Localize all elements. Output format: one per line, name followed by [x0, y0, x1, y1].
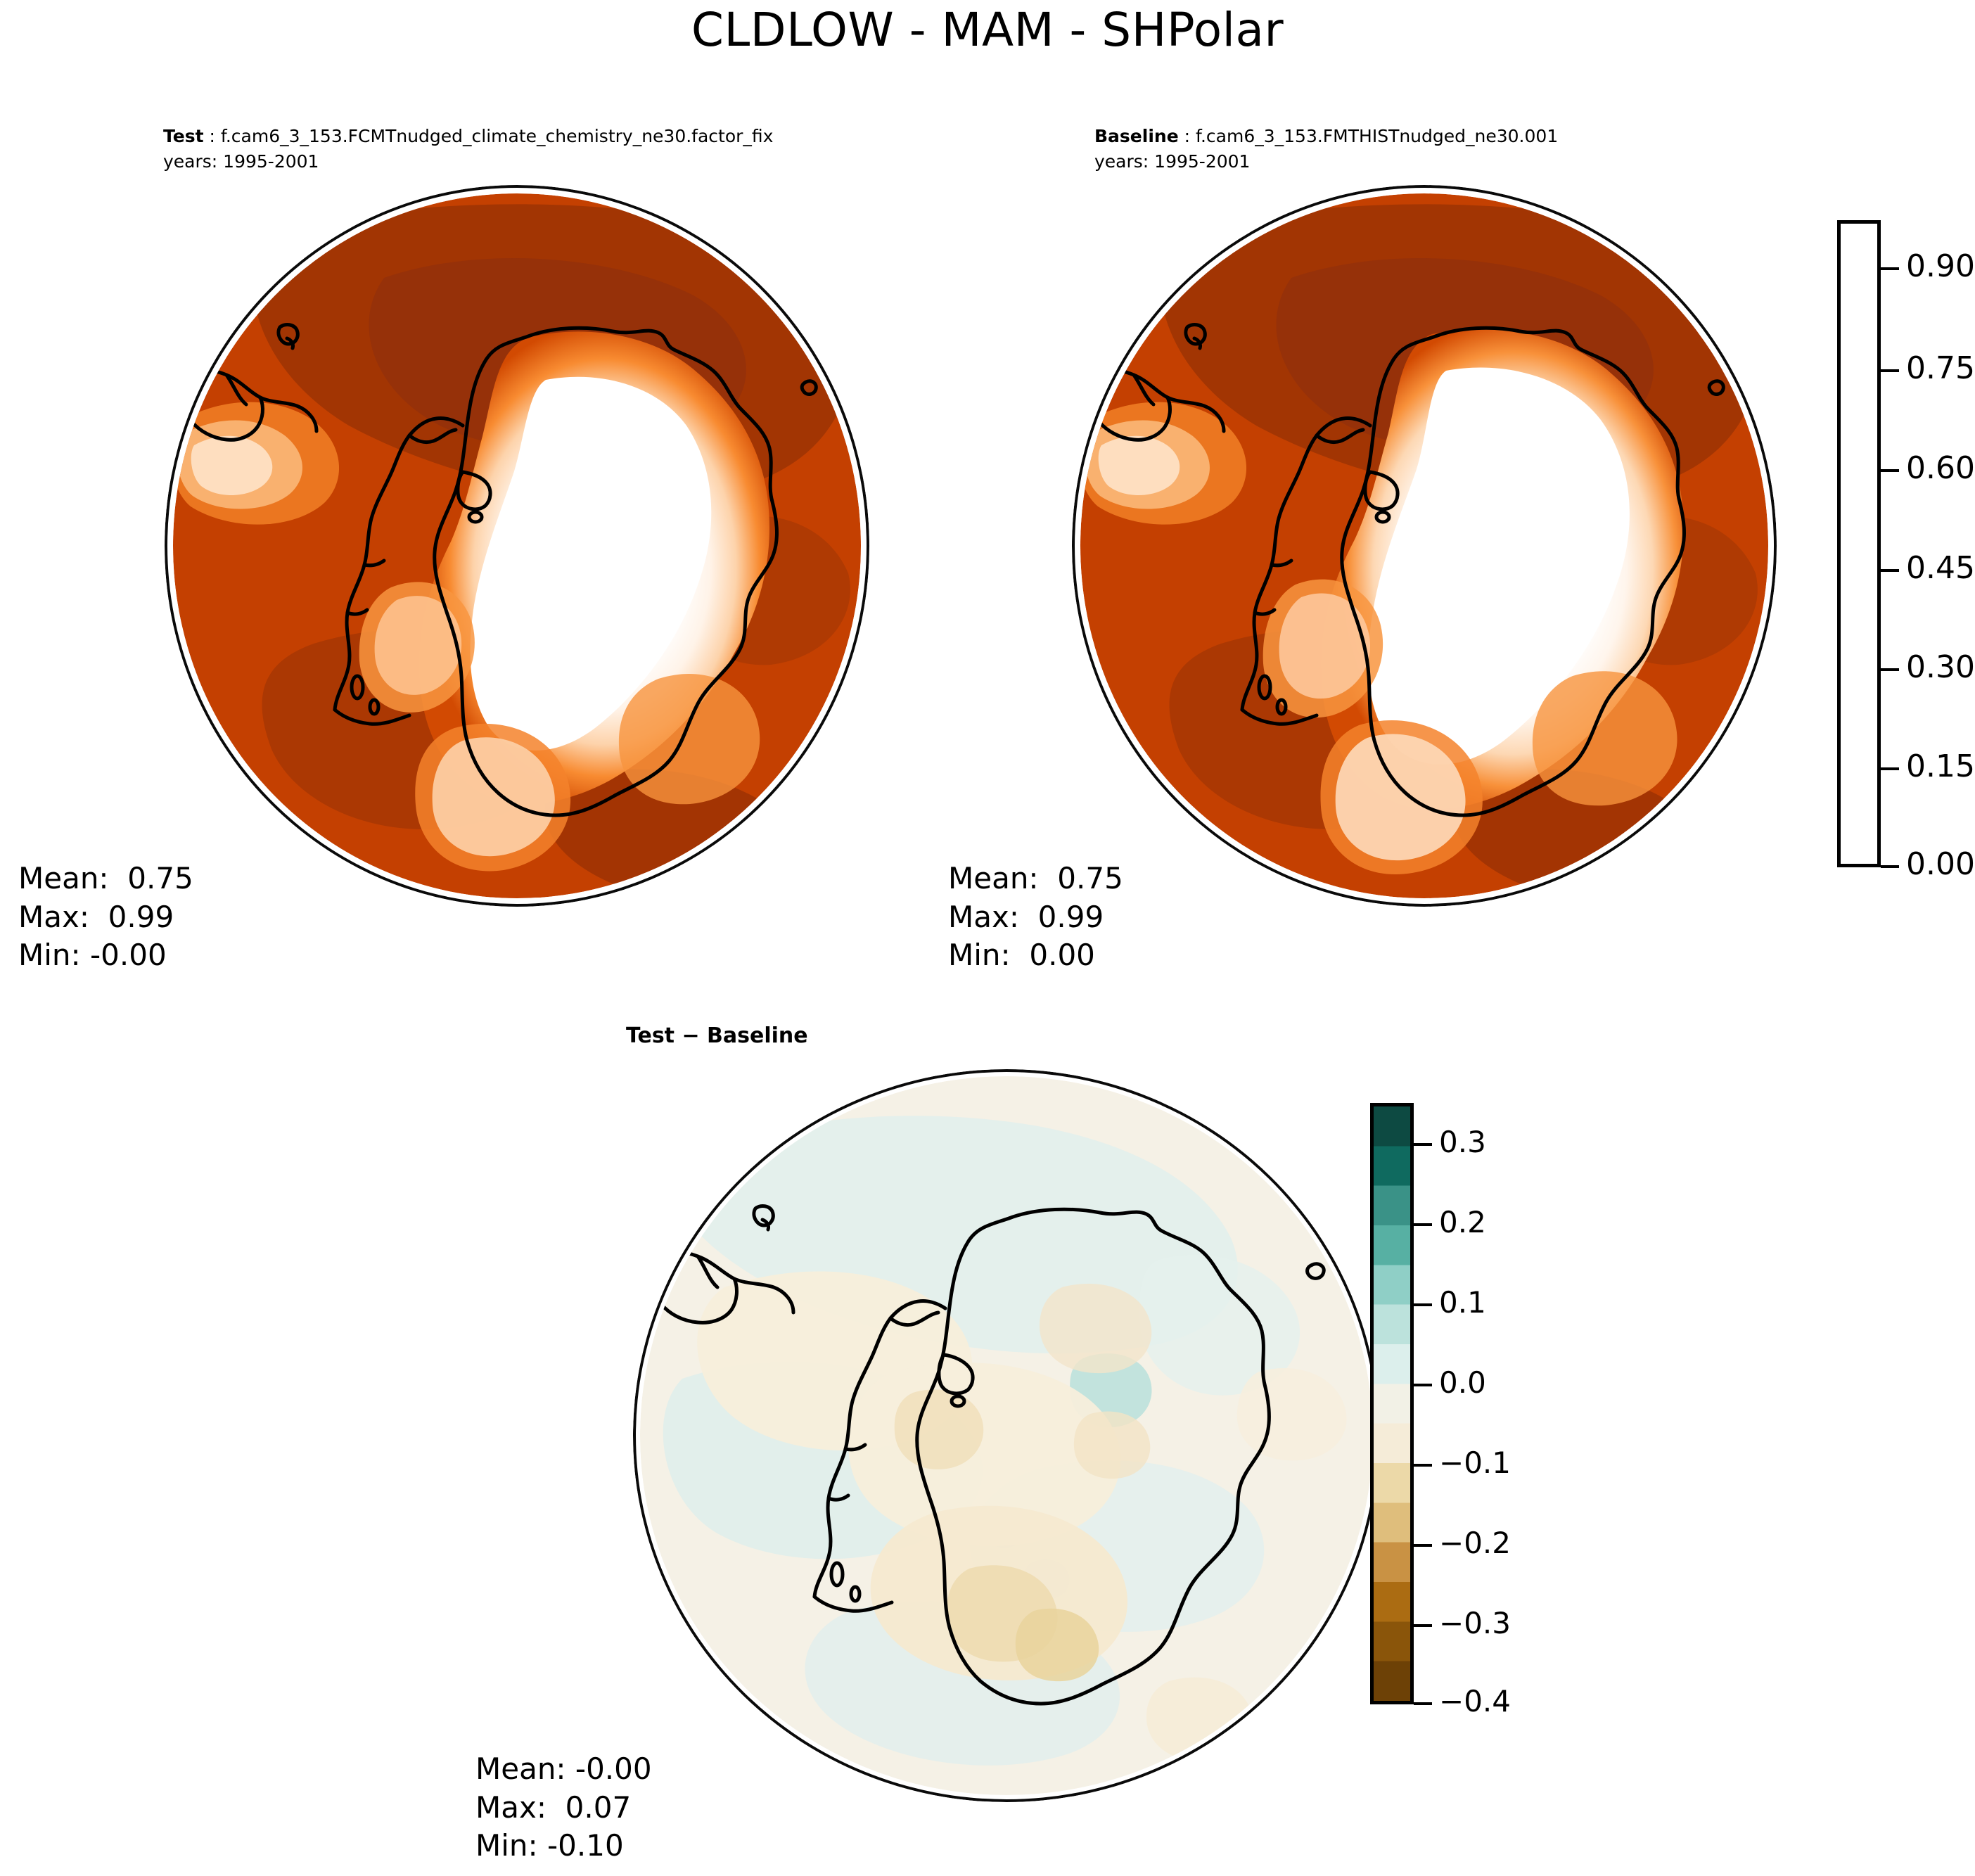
baseline-map-boundary — [1072, 185, 1777, 907]
main-tick-mark — [1881, 767, 1899, 770]
difference-statistics: Mean: -0.00 Max: 0.07 Min: -0.10 — [475, 1750, 652, 1865]
main-tick-mark — [1881, 668, 1899, 671]
test-years: years: 1995-2001 — [163, 149, 773, 174]
main-tick-mark — [1881, 469, 1899, 472]
main-tick-label: 0.45 — [1906, 553, 1975, 584]
main-tick-mark — [1881, 865, 1899, 868]
diff-tick-label: −0.3 — [1439, 1609, 1511, 1638]
baseline-label: Baseline — [1094, 126, 1179, 146]
diff-tick-label: 0.3 — [1439, 1128, 1486, 1157]
main-tick-label: 0.90 — [1906, 251, 1975, 282]
diff-tick-label: 0.0 — [1439, 1368, 1486, 1398]
main-tick-label: 0.30 — [1906, 652, 1975, 683]
diff-tick-label: −0.2 — [1439, 1529, 1511, 1558]
difference-panel-title: Test − Baseline — [626, 1023, 808, 1048]
page-title: CLDLOW - MAM - SHPolar — [0, 3, 1975, 57]
main-colorbar-ticks: 0.90 0.75 0.60 0.45 0.30 0.15 0.00 — [1837, 220, 1975, 867]
difference-map-boundary — [633, 1069, 1380, 1802]
diff-tick-mark — [1414, 1143, 1432, 1146]
test-label: Test — [163, 126, 204, 146]
diff-tick-mark — [1414, 1223, 1432, 1226]
diff-tick-label: −0.4 — [1439, 1687, 1511, 1716]
test-case-name: f.cam6_3_153.FCMTnudged_climate_chemistr… — [221, 126, 774, 146]
main-tick-mark — [1881, 569, 1899, 572]
baseline-polar-map — [1072, 185, 1777, 907]
main-tick-label: 0.60 — [1906, 453, 1975, 484]
test-separator: : — [204, 126, 221, 146]
test-statistics: Mean: 0.75 Max: 0.99 Min: -0.00 — [18, 860, 193, 975]
diff-tick-label: 0.1 — [1439, 1288, 1486, 1317]
test-polar-map — [165, 185, 869, 907]
diff-tick-mark — [1414, 1384, 1432, 1386]
test-map-boundary — [165, 185, 869, 907]
diff-tick-mark — [1414, 1303, 1432, 1306]
diff-tick-label: −0.1 — [1439, 1448, 1511, 1478]
main-tick-label: 0.15 — [1906, 751, 1975, 782]
test-panel-header: Test : f.cam6_3_153.FCMTnudged_climate_c… — [163, 124, 773, 174]
diff-tick-mark — [1414, 1544, 1432, 1547]
baseline-panel-header: Baseline : f.cam6_3_153.FMTHISTnudged_ne… — [1094, 124, 1558, 174]
difference-polar-map — [633, 1069, 1380, 1802]
main-tick-mark — [1881, 369, 1899, 372]
diff-tick-label: 0.2 — [1439, 1208, 1486, 1237]
main-tick-mark — [1881, 267, 1899, 270]
baseline-separator: : — [1179, 126, 1196, 146]
baseline-years: years: 1995-2001 — [1094, 149, 1558, 174]
diff-tick-mark — [1414, 1624, 1432, 1627]
baseline-case-name: f.cam6_3_153.FMTHISTnudged_ne30.001 — [1196, 126, 1558, 146]
diff-tick-mark — [1414, 1464, 1432, 1467]
baseline-statistics: Mean: 0.75 Max: 0.99 Min: 0.00 — [948, 860, 1123, 975]
main-tick-label: 0.00 — [1906, 849, 1975, 880]
diff-tick-mark — [1414, 1702, 1432, 1705]
main-tick-label: 0.75 — [1906, 353, 1975, 384]
difference-colorbar-ticks: 0.3 0.2 0.1 0.0 −0.1 −0.2 −0.3 −0.4 — [1370, 1103, 1574, 1704]
